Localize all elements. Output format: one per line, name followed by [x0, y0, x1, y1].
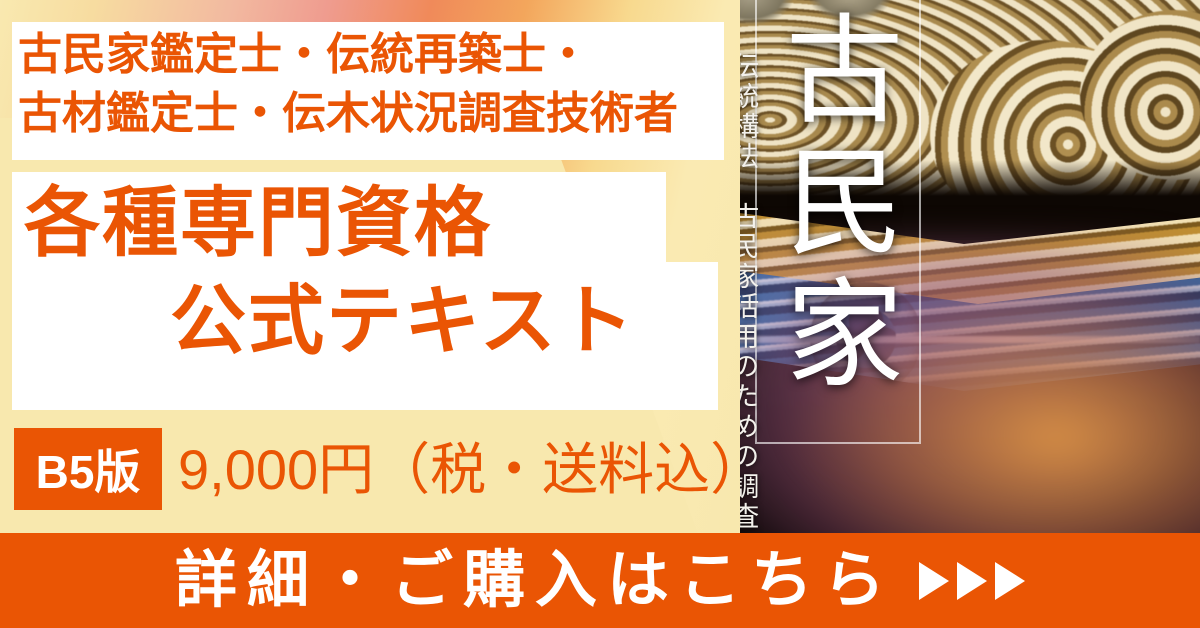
- book-title: 古民家: [770, 8, 902, 438]
- promo-banner: 伝統構法 古民家活用のための調査と再生の 古民家 古民家鑑定士・伝統再築士・ 古…: [0, 0, 1200, 628]
- cta-label: 詳細・ご購入はこちら: [175, 550, 895, 612]
- format-badge: B5版: [14, 428, 162, 510]
- triple-arrow-icon: [919, 562, 1025, 600]
- price-text: 9,000円（税・送料込）: [178, 434, 766, 507]
- cta-bar[interactable]: 詳細・ご購入はこちら: [0, 533, 1200, 628]
- headline-line-1: 各種専門資格: [24, 186, 492, 262]
- certification-list: 古民家鑑定士・伝統再築士・ 古材鑑定士・伝木状況調査技術者: [18, 26, 724, 144]
- arrow-right-icon-2: [957, 562, 987, 600]
- arrow-right-icon-1: [919, 562, 949, 600]
- headline-line-2: 公式テキスト: [170, 284, 636, 360]
- arrow-right-icon-3: [995, 562, 1025, 600]
